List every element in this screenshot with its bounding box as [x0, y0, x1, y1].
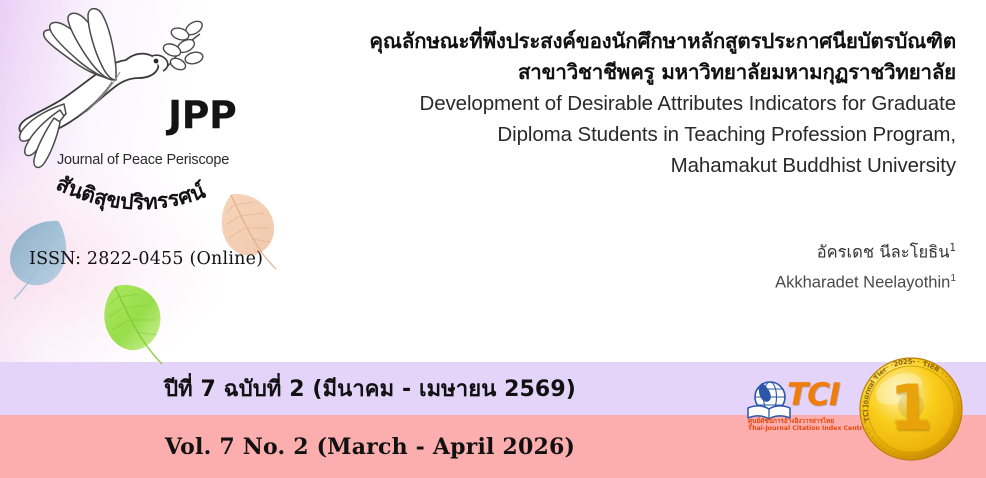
article-title-th-line1: คุณลักษณะที่พึงประสงค์ของนักศึกษาหลักสูต… — [330, 26, 956, 57]
article-title-en-line1: Development of Desirable Attributes Indi… — [330, 88, 956, 119]
author-name-en: Akkharadet Neelayothin1 — [330, 266, 956, 296]
author-name-th-text: อัครเดช นีละโยธิน — [817, 243, 950, 262]
tci-tier-1-badge: TCI Journal Tier 2025-2027 TIER 1 — [858, 356, 964, 462]
author-footnote-en: 1 — [950, 273, 956, 284]
issue-line-english: Vol. 7 No. 2 (March - April 2026) — [0, 415, 740, 478]
journal-name-th: สันติสุขปริทรรศน์ — [53, 171, 209, 214]
issue-line-thai: ปีที่ 7 ฉบับที่ 2 (มีนาคม - เมษายน 2569) — [0, 362, 740, 415]
author-block: อัครเดช นีละโยธิน1 Akkharadet Neelayothi… — [330, 236, 956, 295]
tci-name-en: Thai-Journal Citation Index Centre — [748, 425, 867, 432]
tci-logo: TCI ศูนย์ดัชนีการอ้างอิงวารสารไทย Thai-J… — [746, 378, 866, 440]
journal-abbr-logotype: JPP — [168, 96, 236, 134]
author-name-th: อัครเดช นีละโยธิน1 — [330, 236, 956, 266]
issn-text: ISSN: 2822-0455 (Online) — [29, 249, 263, 269]
article-title-th-line2: สาขาวิชาชีพครู มหาวิทยาลัยมหามกุฏราชวิทย… — [330, 57, 956, 88]
article-title-en-line3: Mahamakut Buddhist University — [330, 150, 956, 181]
dove-with-olive-branch-icon — [8, 8, 218, 173]
article-title-block: คุณลักษณะที่พึงประสงค์ของนักศึกษาหลักสูต… — [330, 26, 956, 181]
author-footnote-th: 1 — [949, 243, 956, 254]
article-title-en-line2: Diploma Students in Teaching Profession … — [330, 119, 956, 150]
journal-cover-banner: JPP Journal of Peace Periscope สันติสุขป… — [0, 0, 986, 478]
journal-logo-block: JPP Journal of Peace Periscope สันติสุขป… — [0, 0, 330, 300]
badge-tier-number: 1 — [858, 356, 964, 462]
author-name-en-text: Akkharadet Neelayothin — [775, 273, 950, 291]
journal-name-th-arc: สันติสุขปริทรรศน์ — [42, 150, 292, 230]
tci-letters: TCI — [787, 380, 839, 411]
